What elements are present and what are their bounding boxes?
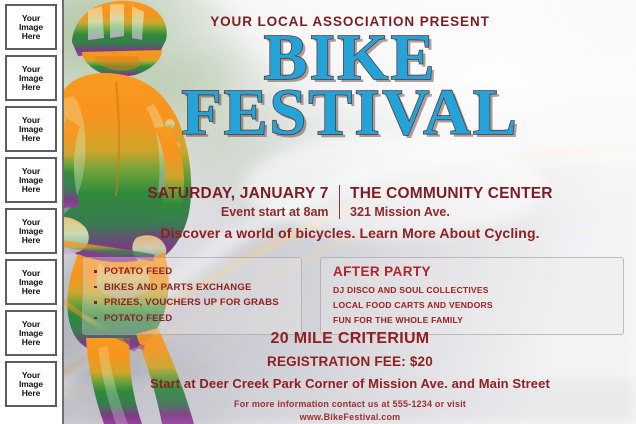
start-location: Start at Deer Creek Park Corner of Missi… [64, 376, 636, 391]
event-date: SATURDAY, JANUARY 7 [147, 184, 328, 203]
criterium-title: 20 MILE CRITERIUM [64, 330, 636, 348]
contact-line: For more information contact us at 555-1… [64, 399, 636, 409]
image-placeholder[interactable]: Your Image Here [5, 310, 57, 356]
image-placeholder[interactable]: Your Image Here [5, 361, 57, 407]
list-item: POTATO FEED [93, 264, 293, 280]
placeholder-line-3: Here [22, 83, 41, 92]
after-party-title: AFTER PARTY [333, 264, 615, 279]
image-placeholder[interactable]: Your Image Here [5, 106, 57, 152]
after-party-item: LOCAL FOOD CARTS AND VENDORS [333, 298, 615, 313]
image-placeholder[interactable]: Your Image Here [5, 259, 57, 305]
image-placeholder-rail: Your Image Here Your Image Here Your Ima… [0, 0, 64, 424]
placeholder-line-3: Here [22, 287, 41, 296]
features-panel: POTATO FEED BIKES AND PARTS EXCHANGE PRI… [82, 257, 302, 335]
after-party-item: DJ DISCO AND SOUL COLLECTIVES [333, 283, 615, 298]
image-placeholder[interactable]: Your Image Here [5, 4, 57, 50]
image-placeholder[interactable]: Your Image Here [5, 157, 57, 203]
image-placeholder[interactable]: Your Image Here [5, 55, 57, 101]
poster-content: YOUR LOCAL ASSOCIATION PRESENT BIKE FEST… [64, 0, 636, 424]
event-start-time: Event start at 8am [147, 203, 328, 221]
venue-address: 321 Mission Ave. [350, 203, 553, 221]
list-item: POTATO FEED [93, 311, 293, 327]
poster-canvas: YOUR LOCAL ASSOCIATION PRESENT BIKE FEST… [0, 0, 636, 424]
image-placeholder[interactable]: Your Image Here [5, 208, 57, 254]
placeholder-line-3: Here [22, 389, 41, 398]
after-party-panel: AFTER PARTY DJ DISCO AND SOUL COLLECTIVE… [320, 257, 624, 335]
event-tagline: Discover a world of bicycles. Learn More… [64, 225, 636, 241]
placeholder-line-3: Here [22, 185, 41, 194]
after-party-item: FUN FOR THE WHOLE FAMILY [333, 313, 615, 328]
event-venue-block: THE COMMUNITY CENTER 321 Mission Ave. [340, 184, 563, 222]
placeholder-line-3: Here [22, 32, 41, 41]
list-item: BIKES AND PARTS EXCHANGE [93, 280, 293, 296]
event-date-block: SATURDAY, JANUARY 7 Event start at 8am [137, 184, 338, 222]
title-line-festival: FESTIVAL [64, 83, 636, 144]
list-item: PRIZES, VOUCHERS UP FOR GRABS [93, 295, 293, 311]
registration-fee: REGISTRATION FEE: $20 [64, 354, 636, 369]
event-info-row: SATURDAY, JANUARY 7 Event start at 8am T… [64, 184, 636, 222]
criterium-block: 20 MILE CRITERIUM REGISTRATION FEE: $20 … [64, 330, 636, 422]
placeholder-line-3: Here [22, 236, 41, 245]
poster-title: BIKE FESTIVAL [64, 28, 636, 143]
website-line: www.BikeFestival.com [64, 412, 636, 422]
venue-name: THE COMMUNITY CENTER [350, 184, 553, 203]
detail-panels: POTATO FEED BIKES AND PARTS EXCHANGE PRI… [82, 257, 624, 335]
placeholder-line-3: Here [22, 134, 41, 143]
placeholder-line-3: Here [22, 338, 41, 347]
features-list: POTATO FEED BIKES AND PARTS EXCHANGE PRI… [93, 264, 293, 326]
